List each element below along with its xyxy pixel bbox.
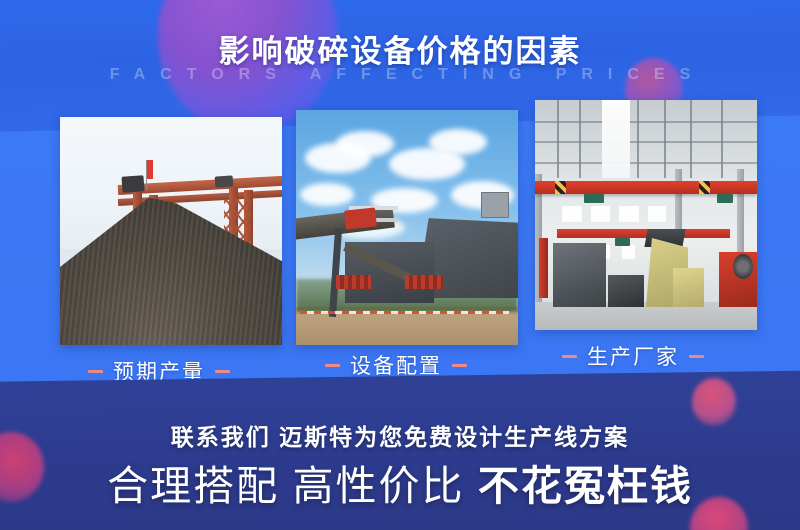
cta-slogan-line: 合理搭配 高性价比 不花冤枉钱	[0, 452, 800, 512]
page-subtitle: FACTORS AFFECTING PRICES	[0, 66, 800, 84]
dash-left-icon	[88, 370, 103, 373]
page-title: 影响破碎设备价格的因素	[0, 26, 800, 71]
caption-manufacturer: 生产厂家	[562, 341, 704, 371]
cta-slogan-heavy: 不花冤枉钱	[478, 463, 693, 509]
promo-banner: 影响破碎设备价格的因素 FACTORS AFFECTING PRICES	[0, 0, 800, 530]
photo-aggregate-stockpile	[60, 117, 282, 345]
caption-text: 生产厂家	[587, 341, 679, 371]
photo-crushing-plant	[296, 110, 518, 345]
feature-card-output[interactable]	[60, 117, 282, 345]
photo-factory-workshop	[535, 100, 757, 330]
feature-card-configuration[interactable]	[296, 110, 518, 345]
dash-right-icon	[215, 370, 230, 373]
cta-contact-line: 联系我们 迈斯特为您免费设计生产线方案	[0, 418, 800, 452]
dash-right-icon	[689, 355, 704, 358]
dash-right-icon	[452, 364, 467, 367]
cta-slogan-light: 合理搭配 高性价比	[107, 463, 464, 509]
dash-left-icon	[562, 355, 577, 358]
feature-card-manufacturer[interactable]	[535, 100, 757, 330]
dash-left-icon	[325, 364, 340, 367]
